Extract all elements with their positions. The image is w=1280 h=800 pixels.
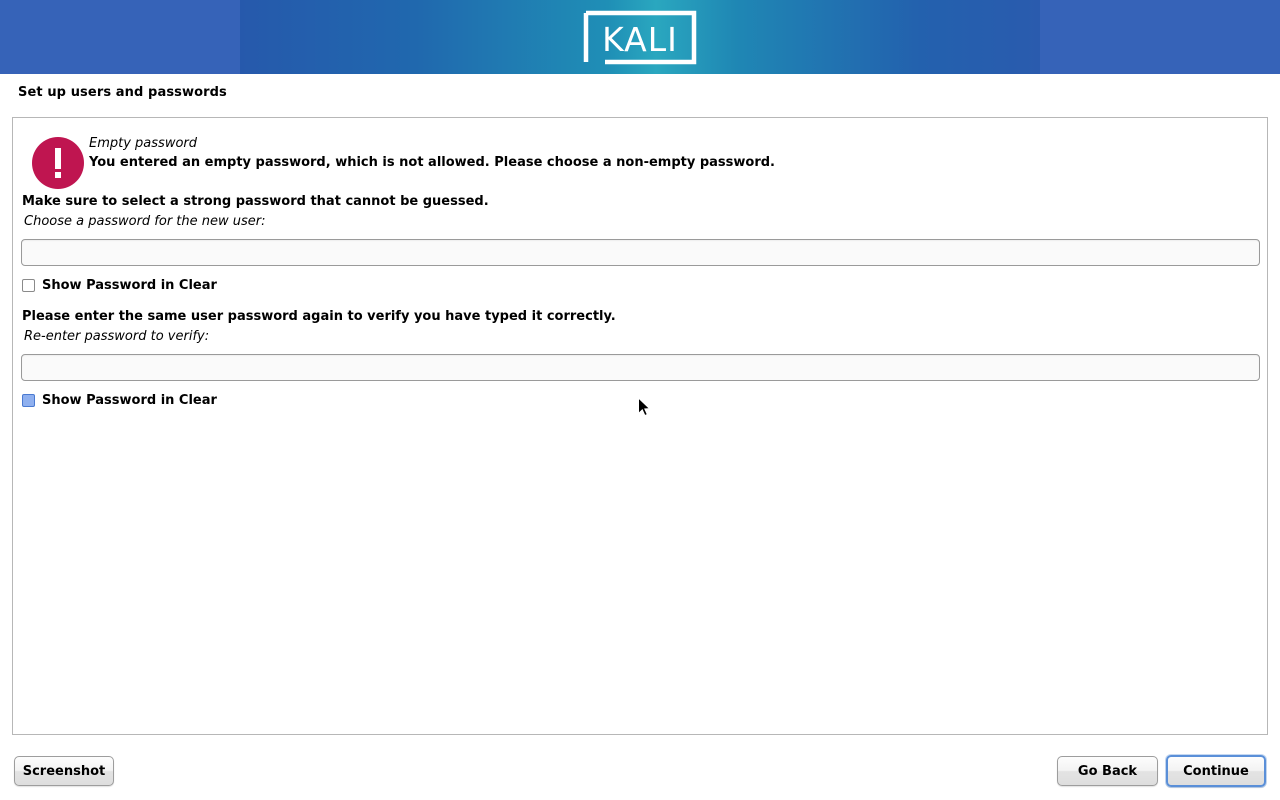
kali-logo-icon: KALI [583, 10, 697, 65]
password-strength-heading: Make sure to select a strong password th… [22, 194, 489, 209]
show-password-checkbox-label-2: Show Password in Clear [42, 393, 217, 408]
page-title: Set up users and passwords [18, 85, 227, 100]
exclamation-circle-icon [32, 137, 84, 189]
error-notification: Empty password You entered an empty pass… [21, 126, 1261, 188]
password-input[interactable] [21, 239, 1260, 266]
show-password-checkbox-1[interactable] [22, 279, 35, 292]
svg-text:KALI: KALI [602, 20, 678, 59]
go-back-button[interactable]: Go Back [1057, 756, 1158, 786]
error-message: You entered an empty password, which is … [89, 155, 775, 170]
show-password-checkbox-2[interactable] [22, 394, 35, 407]
show-password-checkbox-row-2[interactable]: Show Password in Clear [22, 391, 217, 409]
kali-banner: KALI [0, 0, 1280, 74]
error-title: Empty password [89, 136, 197, 151]
verify-password-heading: Please enter the same user password agai… [22, 309, 616, 324]
password-field-label: Choose a password for the new user: [24, 214, 266, 229]
content-panel: Empty password You entered an empty pass… [12, 117, 1268, 735]
screenshot-button[interactable]: Screenshot [14, 756, 114, 786]
show-password-checkbox-row-1[interactable]: Show Password in Clear [22, 276, 217, 294]
installer-screen: KALI Set up users and passwords Empty pa… [0, 0, 1280, 800]
show-password-checkbox-label-1: Show Password in Clear [42, 278, 217, 293]
verify-field-label: Re-enter password to verify: [24, 329, 209, 344]
continue-button[interactable]: Continue [1166, 755, 1266, 787]
verify-password-input[interactable] [21, 354, 1260, 381]
